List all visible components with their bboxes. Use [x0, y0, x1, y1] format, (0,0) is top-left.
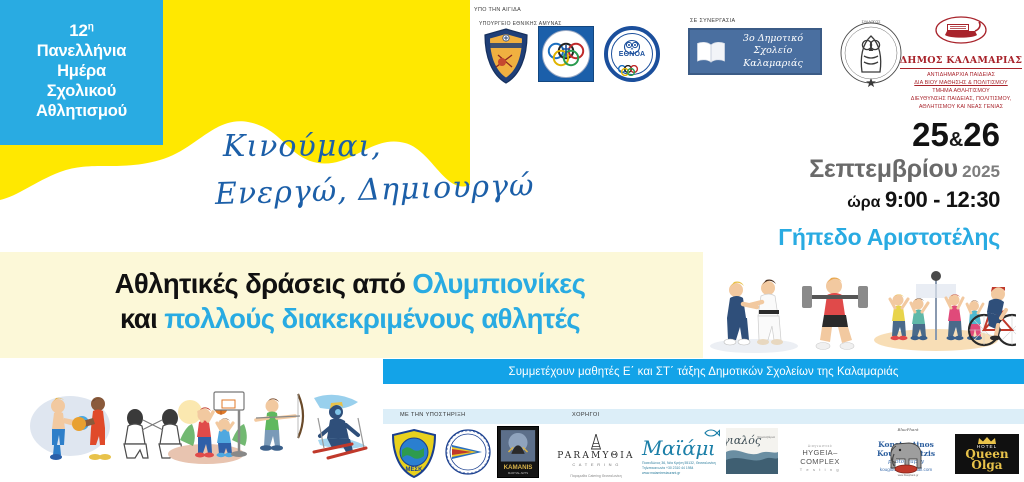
municipality-sub4: ΔΙΕΥΘΥΝΣΗΣ ΠΑΙΔΕΙΑΣ, ΠΟΛΙΤΙΣΜΟΥ,	[898, 95, 1024, 103]
poster-canvas: 12η Πανελλήνια Ημέρα Σχολικού Αθλητισμού…	[0, 0, 1024, 482]
sponsor-nautical-club-seal-icon	[444, 428, 492, 476]
volleyball-illustration	[874, 271, 998, 351]
municipality-subtitle: ΑΝΤΙΔΗΜΑΡΧΙΑ ΠΑΙΔΕΙΑΣ ΔΙΑ ΒΙΟΥ ΜΑΘΗΣΗΣ &…	[898, 71, 1024, 112]
sponsor-maiami-note: Ποσειδώνος 36, Νέα Κρήνη 55132, Θεσσαλον…	[642, 461, 720, 476]
svg-text:ΜΕΣΚ: ΜΕΣΚ	[406, 467, 424, 473]
sponsor-gialos-logo: γιαλός Ψαροταβέρνα	[726, 428, 778, 474]
cooperation-label: ΣΕ ΣΥΝΕΡΓΑΣΙΑ	[690, 18, 735, 24]
judo-illustration	[710, 280, 798, 354]
sponsor-paramythia-note: C A T E R I N G	[557, 462, 635, 467]
sponsor-hygeia-name: HYGEIA–COMPLEX	[784, 448, 856, 466]
event-time: ώρα 9:00 - 12:30	[580, 189, 1000, 211]
event-title-box: 12η Πανελλήνια Ημέρα Σχολικού Αθλητισμού	[0, 0, 163, 145]
sports-illustrations-bottom-left	[18, 378, 370, 478]
ancient-ship-icon	[935, 16, 987, 44]
participants-strip: Συμμετέχουν μαθητές Ε΄ και ΣΤ΄ τάξης Δημ…	[383, 359, 1024, 384]
sponsor-paramythia-footer: Παραμυθία Catering Θεσσαλονίκη	[557, 474, 635, 479]
title-line-5: Αθλητισμού	[36, 102, 127, 122]
svg-text:BluePhant: BluePhant	[897, 427, 919, 432]
headline-line-2: και πολλούς διακεκριμένους αθλητές	[0, 301, 700, 336]
municipality-sub5: ΑΘΛΗΤΙΣΜΟΥ ΚΑΙ ΝΕΑΣ ΓΕΝΙΑΣ	[898, 103, 1024, 111]
municipality-sub2: ΔΙΑ ΒΙΟΥ ΜΑΘΗΣΗΣ & ΠΟΛΙΤΙΣΜΟΥ	[898, 79, 1024, 87]
title-line-4: Σχολικού	[47, 82, 116, 102]
svg-text:Ψαροταβέρνα: Ψαροταβέρνα	[757, 435, 776, 439]
skiing-illustration	[314, 395, 366, 458]
sponsor-hygeia-complex-logo: Διαγνωστικό HYGEIA–COMPLEX T e s t i n g	[784, 444, 856, 472]
participants-text: Συμμετέχουν μαθητές Ε΄ και ΣΤ΄ τάξης Δημ…	[509, 366, 899, 378]
event-month-year: Σεπτεμβρίου 2025	[580, 157, 1000, 182]
school-name-line2: Καλαμαριάς	[732, 58, 814, 71]
event-datetime-block: 25&26 Σεπτεμβρίου 2025 ώρα 9:00 - 12:30 …	[580, 118, 1000, 251]
ministry-defence-shield-icon	[482, 27, 530, 85]
svg-text:MARTIAL ARTS: MARTIAL ARTS	[508, 471, 528, 475]
sports-illustrations-right	[706, 268, 1016, 358]
weightlifting-illustration	[802, 278, 868, 350]
sponsor-queen-olga-name: Queen Olga	[955, 449, 1019, 472]
sponsor-paramythia-logo: PARAMYΘIA C A T E R I N G Παραμυθία Cate…	[557, 434, 635, 479]
archery-illustration	[256, 394, 303, 451]
municipality-name: ΔΗΜΟΣ ΚΑΛΑΜΑΡΙΑΣ	[900, 55, 1022, 69]
sponsor-paramythia-name: PARAMYΘIA	[557, 451, 635, 461]
sponsor-queen-olga-hotel-logo: HOTEL Queen Olga	[955, 434, 1019, 474]
headline-line-1: Αθλητικές δράσεις από Ολυμπιονίκες	[0, 266, 700, 301]
askel-olympic-badge-icon	[538, 26, 594, 82]
svg-text:ΣΥΛΛΟΓΟΣ: ΣΥΛΛΟΓΟΣ	[862, 20, 882, 24]
support-label: ΜΕ ΤΗΝ ΥΠΟΣΤΗΡΙΞΗ	[400, 412, 466, 418]
municipality-sub3: ΤΜΗΜΑ ΑΘΛΗΤΙΣΜΟΥ	[898, 87, 1024, 95]
sponsor-kamanis-poster-icon: KAMANIS MARTIAL ARTS	[497, 426, 539, 478]
sponsor-hygeia-sub: T e s t i n g	[784, 467, 856, 472]
headline: Αθλητικές δράσεις από Ολυμπιονίκες και π…	[0, 266, 700, 336]
ethnoa-name: ΕΘΝΟΑ	[608, 51, 656, 58]
aegis-label: ΥΠΟ ΤΗΝ ΑΙΓΙΔΑ	[474, 7, 521, 13]
teachers-association-owl-seal-icon: ΣΥΛΛΟΓΟΣ	[836, 14, 906, 92]
municipality-kalamaria-logo: ΔΗΜΟΣ ΚΑΛΑΜΑΡΙΑΣ ΑΝΤΙΔΗΜΑΡΧΙΑ ΠΑΙΔΕΙΑΣ Δ…	[898, 16, 1024, 111]
basketball-illustration	[168, 392, 247, 464]
eiffel-mark-icon	[589, 434, 603, 450]
title-line-3: Ημέρα	[57, 62, 106, 82]
sponsor-maiami-logo: Μαϊάμι Ποσειδώνος 36, Νέα Κρήνη 55132, Θ…	[642, 430, 720, 476]
boxing-illustration	[30, 396, 111, 460]
sponsor-blue-elephant-icon: BluePhant www.bluephant.gr	[880, 424, 936, 478]
svg-text:www.bluephant.gr: www.bluephant.gr	[898, 473, 919, 477]
municipality-sub1: ΑΝΤΙΔΗΜΑΡΧΙΑ ΠΑΙΔΕΙΑΣ	[898, 71, 1024, 79]
sponsor-header-strip: ΜΕ ΤΗΝ ΥΠΟΣΤΗΡΙΞΗ ΧΟΡΗΓΟΙ	[383, 409, 1024, 424]
sponsors-label: ΧΟΡΗΓΟΙ	[572, 412, 600, 418]
title-line-1: 12η	[69, 21, 93, 42]
school-name-line1: 3ο Δημοτικό Σχολείο	[732, 33, 814, 58]
ethnoa-academy-badge-icon: ΕΘΝΟΑ	[604, 26, 660, 82]
event-venue: Γήπεδο Αριστοτέλης	[580, 224, 1000, 251]
sponsor-mesk-crest-icon: ΜΕΣΚ	[390, 428, 438, 478]
open-book-icon	[696, 40, 726, 64]
title-line-2: Πανελλήνια	[37, 42, 126, 62]
event-days: 25&26	[580, 118, 1000, 151]
school-3rd-primary-logo: 3ο Δημοτικό Σχολείο Καλαμαριάς	[688, 28, 822, 75]
school-name: 3ο Δημοτικό Σχολείο Καλαμαριάς	[732, 33, 814, 71]
